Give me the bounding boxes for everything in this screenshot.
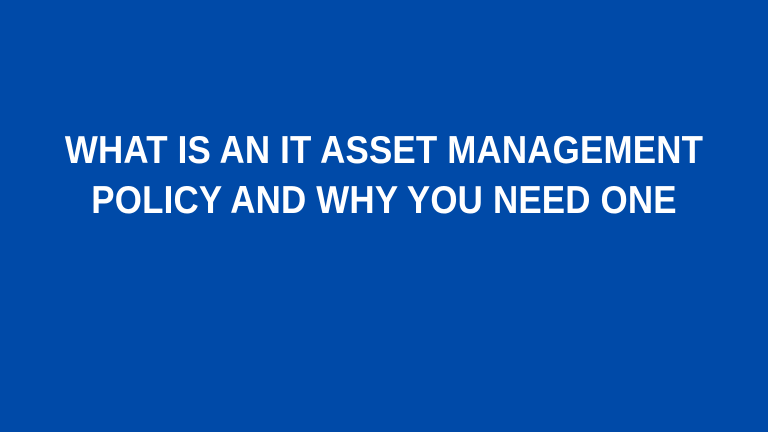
title-slide: WHAT IS AN IT ASSET MANAGEMENT POLICY AN… [0, 0, 768, 432]
title-line-1: WHAT IS AN IT ASSET MANAGEMENT [40, 126, 727, 176]
title-block: WHAT IS AN IT ASSET MANAGEMENT POLICY AN… [0, 126, 768, 226]
title-line-2: POLICY AND WHY YOU NEED ONE [40, 176, 727, 226]
